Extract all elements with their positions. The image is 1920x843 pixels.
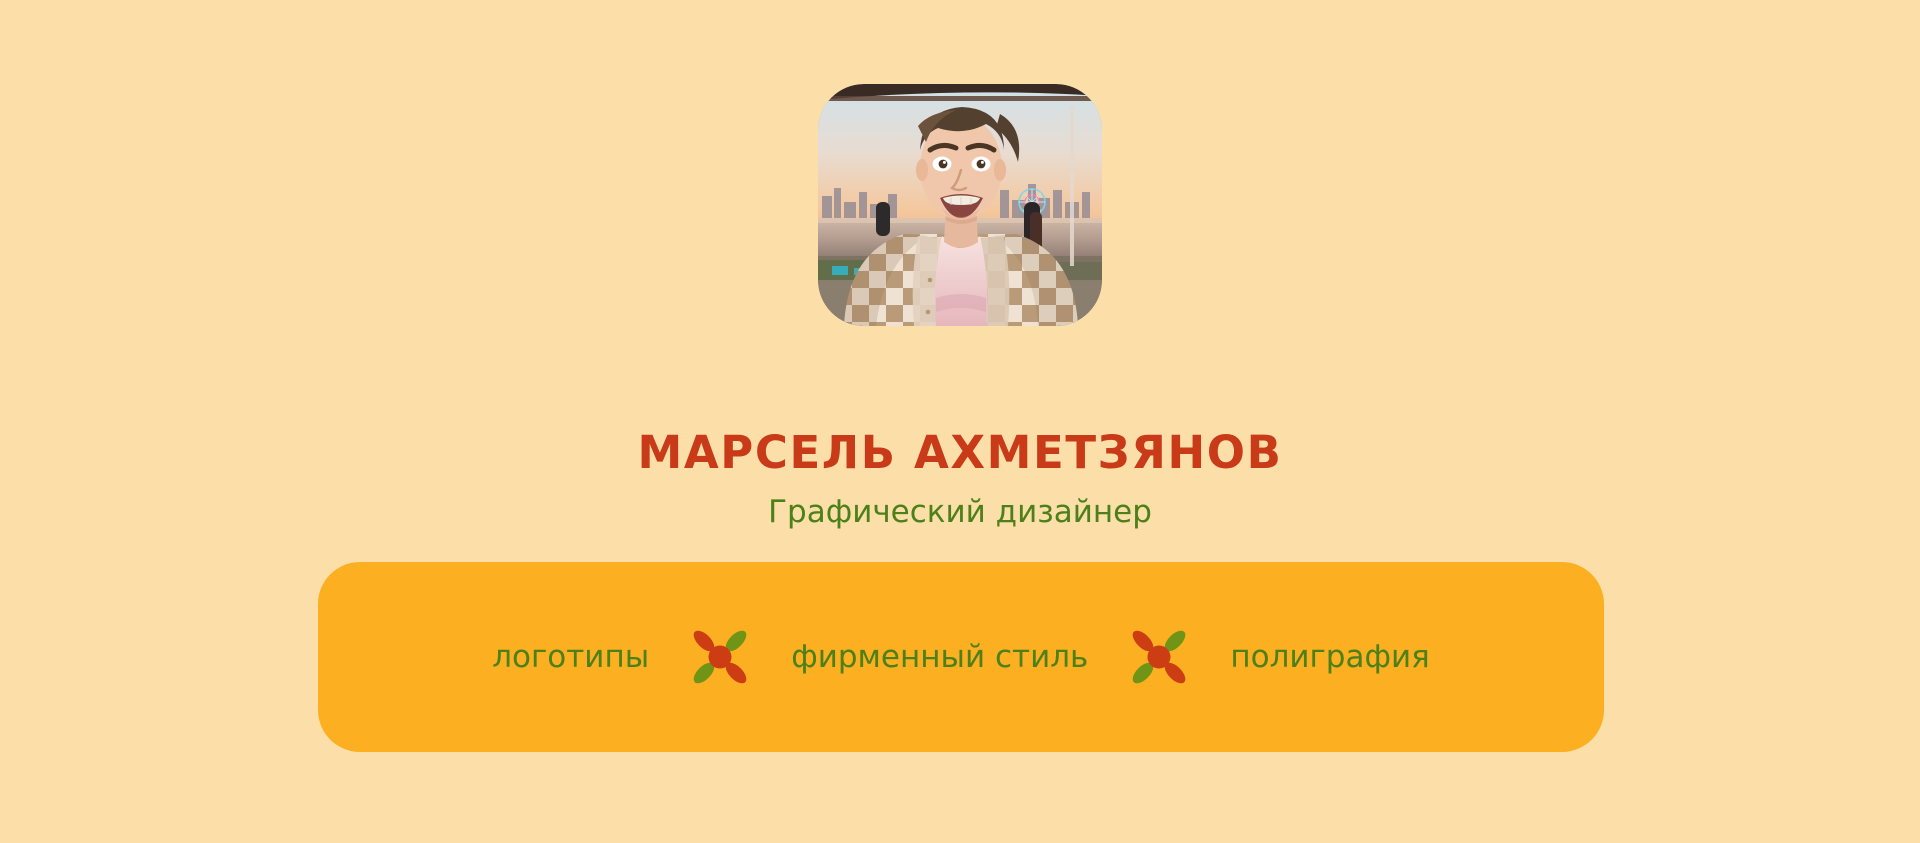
cross-flower-icon xyxy=(1124,622,1194,692)
cross-flower-icon xyxy=(685,622,755,692)
profile-photo xyxy=(818,84,1102,326)
service-tag-brand-identity[interactable]: фирменный стиль xyxy=(769,642,1110,673)
profile-role: Графический дизайнер xyxy=(0,497,1920,528)
service-tag-print[interactable]: полиграфия xyxy=(1208,642,1451,673)
profile-photo-image xyxy=(818,84,1102,326)
services-banner: логотипы фирменный стиль xyxy=(318,562,1604,752)
page-title: МАРСЕЛЬ АХМЕТЗЯНОВ xyxy=(0,430,1920,475)
services-list: логотипы фирменный стиль xyxy=(470,622,1452,692)
service-tag-logos[interactable]: логотипы xyxy=(470,642,671,673)
business-card-page: МАРСЕЛЬ АХМЕТЗЯНОВ Графический дизайнер … xyxy=(0,0,1920,843)
